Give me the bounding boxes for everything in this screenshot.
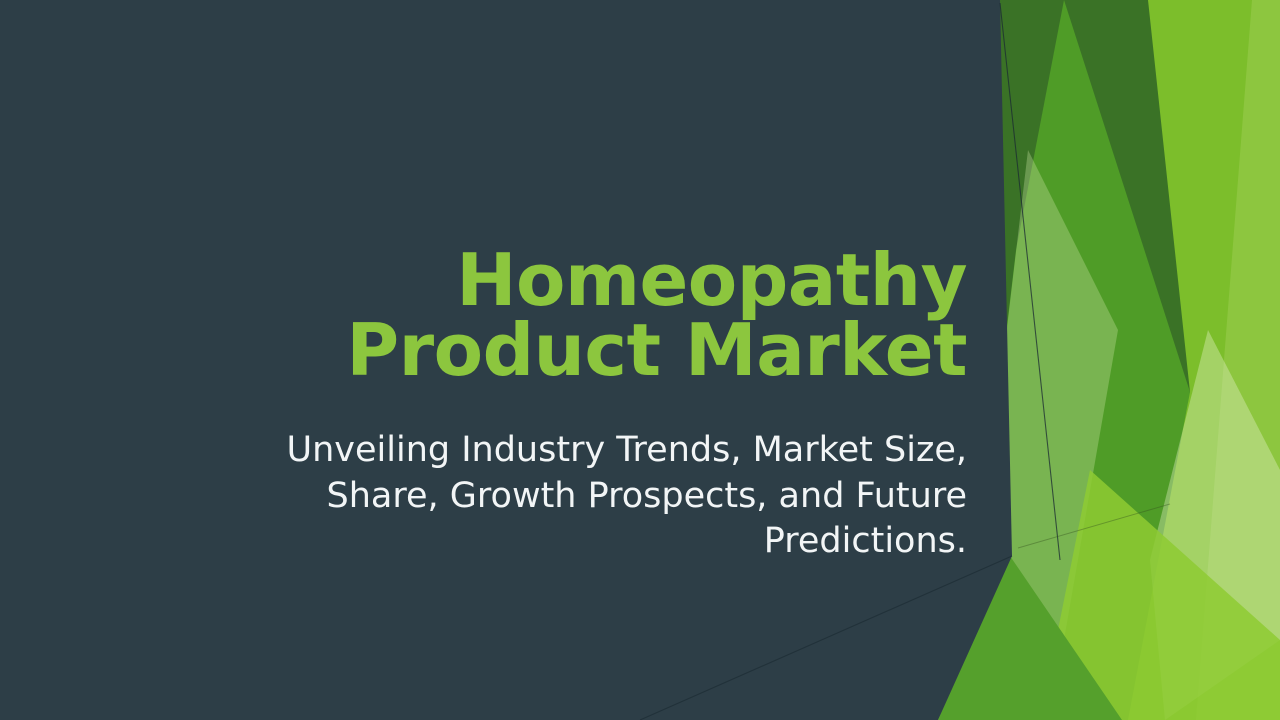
slide-content: Homeopathy Product Market Unveiling Indu…	[0, 0, 1280, 720]
presentation-slide: Homeopathy Product Market Unveiling Indu…	[0, 0, 1280, 720]
subtitle-block: Unveiling Industry Trends, Market Size, …	[170, 428, 967, 565]
slide-subtitle: Unveiling Industry Trends, Market Size, …	[170, 428, 967, 565]
title-block: Homeopathy Product Market	[170, 246, 967, 386]
page-title: Homeopathy Product Market	[170, 246, 967, 386]
